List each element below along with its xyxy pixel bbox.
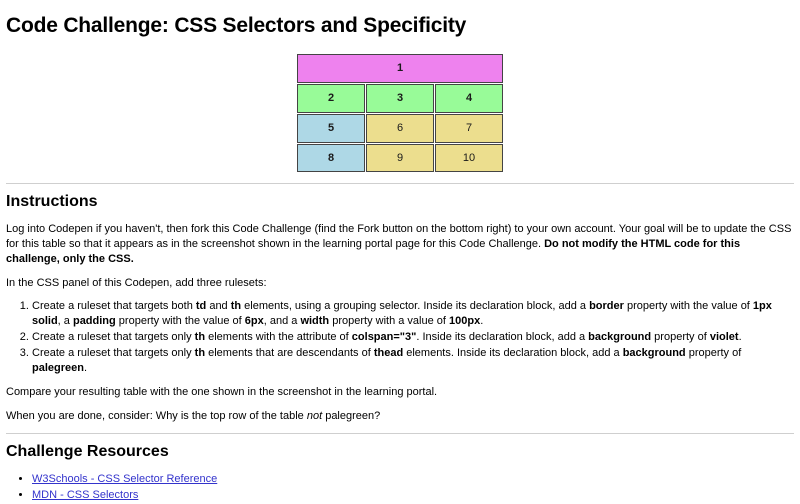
compare-paragraph: Compare your resulting table with the on… bbox=[6, 385, 794, 400]
ruleset-1-code-1: td bbox=[196, 300, 206, 312]
demo-table-head: 1 bbox=[297, 54, 503, 83]
table-cell-10: 10 bbox=[435, 144, 503, 173]
demo-table-body: 2 3 4 5 6 7 8 9 10 bbox=[297, 84, 503, 173]
ruleset-3-code-4: palegreen bbox=[32, 362, 84, 374]
ruleset-2-text-2: elements with the attribute of bbox=[205, 331, 352, 343]
list-item: W3Schools - CSS Selector Reference bbox=[32, 472, 794, 488]
ruleset-1-text-3: elements, using a grouping selector. Ins… bbox=[241, 300, 589, 312]
table-cell-8: 8 bbox=[297, 144, 365, 173]
ruleset-1-text-8: property with a value of bbox=[329, 315, 449, 327]
list-item: MDN - CSS Selectors bbox=[32, 488, 794, 504]
divider-above-resources bbox=[6, 433, 794, 434]
demo-table-wrapper: 1 2 3 4 5 6 7 8 9 10 bbox=[6, 53, 794, 173]
ruleset-1-text-5: , a bbox=[58, 315, 73, 327]
table-cell-3: 3 bbox=[366, 84, 434, 113]
ruleset-3-text-2: elements that are descendants of bbox=[205, 347, 374, 359]
ruleset-2-text-5: . bbox=[739, 331, 742, 343]
ruleset-1-text-9: . bbox=[480, 315, 483, 327]
ruleset-2-code-1: th bbox=[195, 331, 205, 343]
divider-above-instructions bbox=[6, 183, 794, 184]
ruleset-3-text-1: Create a ruleset that targets only bbox=[32, 347, 195, 359]
ruleset-1-code-7: width bbox=[300, 315, 329, 327]
table-head-cell-1: 1 bbox=[297, 54, 503, 83]
resources-heading: Challenge Resources bbox=[6, 443, 794, 461]
table-cell-5: 5 bbox=[297, 114, 365, 143]
ruleset-1-text-2: and bbox=[206, 300, 230, 312]
list-item: Create a ruleset that targets only th el… bbox=[32, 346, 794, 376]
ruleset-2-text-3: . Inside its declaration block, add a bbox=[416, 331, 588, 343]
ruleset-1-text-4: property with the value of bbox=[624, 300, 753, 312]
ruleset-1-code-5: padding bbox=[73, 315, 116, 327]
ruleset-3-code-3: background bbox=[623, 347, 686, 359]
list-item: Create a ruleset that targets both td an… bbox=[32, 299, 794, 329]
consider-paragraph: When you are done, consider: Why is the … bbox=[6, 409, 794, 424]
resource-link-mdn[interactable]: MDN - CSS Selectors bbox=[32, 489, 138, 501]
ruleset-2-text-4: property of bbox=[651, 331, 710, 343]
table-row: 5 6 7 bbox=[297, 114, 503, 143]
consider-text-1: When you are done, consider: Why is the … bbox=[6, 410, 307, 422]
ruleset-1-code-6: 6px bbox=[245, 315, 264, 327]
ruleset-1-code-8: 100px bbox=[449, 315, 480, 327]
table-row: 8 9 10 bbox=[297, 144, 503, 173]
ruleset-2-text-1: Create a ruleset that targets only bbox=[32, 331, 195, 343]
page-title: Code Challenge: CSS Selectors and Specif… bbox=[6, 14, 794, 37]
ruleset-1-code-3: border bbox=[589, 300, 624, 312]
ruleset-3-code-2: thead bbox=[374, 347, 403, 359]
ruleset-3-text-3: elements. Inside its declaration block, … bbox=[403, 347, 623, 359]
table-cell-7: 7 bbox=[435, 114, 503, 143]
consider-text-2: palegreen? bbox=[322, 410, 380, 422]
table-cell-2: 2 bbox=[297, 84, 365, 113]
ruleset-1-text-6: property with the value of bbox=[116, 315, 245, 327]
ruleset-3-code-1: th bbox=[195, 347, 205, 359]
instructions-intro: Log into Codepen if you haven't, then fo… bbox=[6, 222, 794, 267]
table-cell-6: 6 bbox=[366, 114, 434, 143]
table-cell-4: 4 bbox=[435, 84, 503, 113]
ruleset-list: Create a ruleset that targets both td an… bbox=[6, 299, 794, 375]
resource-link-w3schools[interactable]: W3Schools - CSS Selector Reference bbox=[32, 473, 217, 485]
instructions-lead-in: In the CSS panel of this Codepen, add th… bbox=[6, 276, 794, 291]
table-cell-9: 9 bbox=[366, 144, 434, 173]
table-row-head: 1 bbox=[297, 54, 503, 83]
ruleset-1-text-7: , and a bbox=[264, 315, 301, 327]
ruleset-3-text-4: property of bbox=[686, 347, 742, 359]
ruleset-1-code-2: th bbox=[231, 300, 241, 312]
page-root: Code Challenge: CSS Selectors and Specif… bbox=[0, 0, 800, 504]
resource-list: W3Schools - CSS Selector Reference MDN -… bbox=[6, 472, 794, 504]
demo-table: 1 2 3 4 5 6 7 8 9 10 bbox=[296, 53, 504, 173]
list-item: Create a ruleset that targets only th el… bbox=[32, 330, 794, 345]
ruleset-3-text-5: . bbox=[84, 362, 87, 374]
instructions-heading: Instructions bbox=[6, 193, 794, 211]
ruleset-2-code-2: colspan="3" bbox=[352, 331, 417, 343]
ruleset-2-code-3: background bbox=[588, 331, 651, 343]
consider-emphasis: not bbox=[307, 410, 322, 422]
table-row: 2 3 4 bbox=[297, 84, 503, 113]
ruleset-1-text-1: Create a ruleset that targets both bbox=[32, 300, 196, 312]
ruleset-2-code-4: violet bbox=[710, 331, 739, 343]
